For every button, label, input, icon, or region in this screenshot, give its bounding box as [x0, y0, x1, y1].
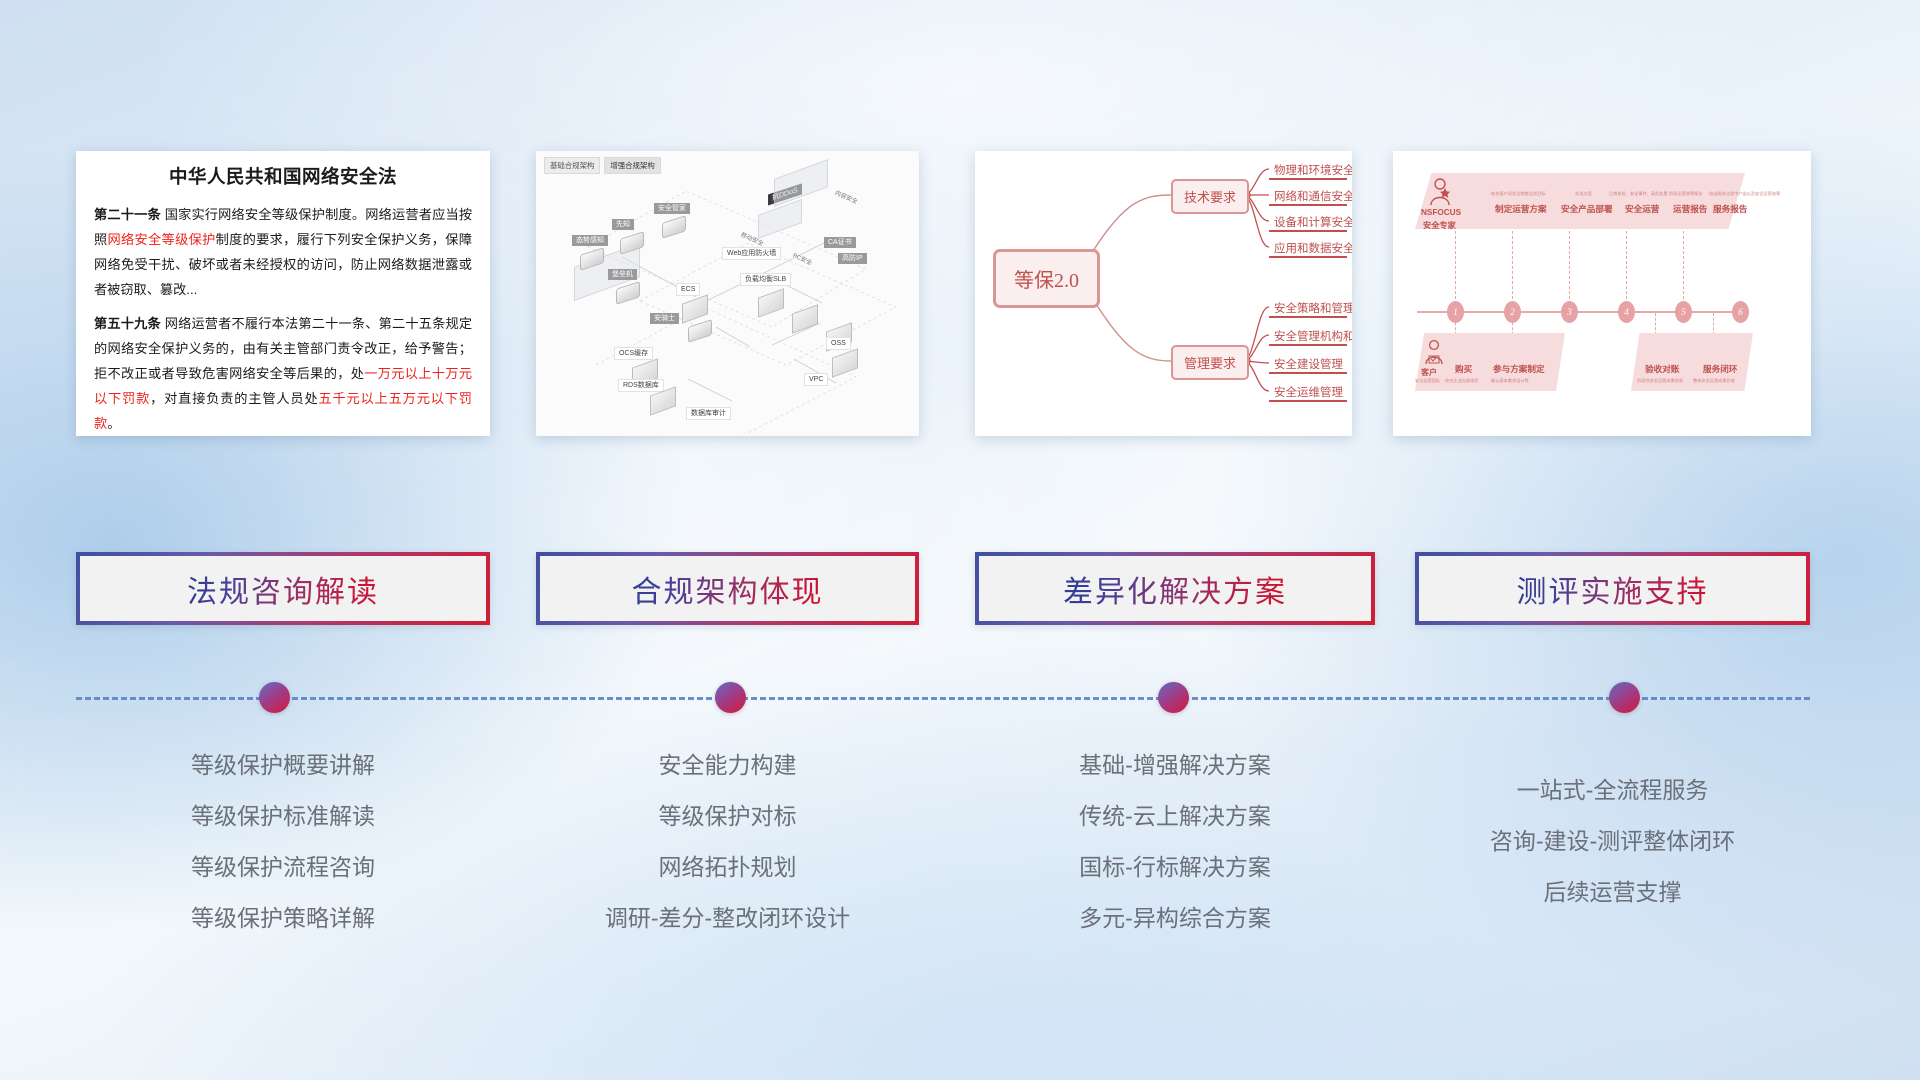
section-title-3: 差异化解决方案 — [1063, 567, 1287, 611]
section-title-box-4[interactable]: 测评实施支持 — [1415, 552, 1810, 625]
section-title-1: 法规咨询解读 — [187, 567, 379, 611]
section-title-box-1[interactable]: 法规咨询解读 — [76, 552, 490, 625]
section-items-1: 等级保护概要讲解 等级保护标准解读 等级保护流程咨询 等级保护策略详解 — [76, 740, 490, 944]
section-items-4: 一站式-全流程服务 咨询-建设-测评整体闭环 后续运营支撑 — [1415, 765, 1810, 918]
list-item: 等级保护标准解读 — [76, 791, 490, 842]
section-items-2: 安全能力构建 等级保护对标 网络拓扑规划 调研-差分-整改闭环设计 — [536, 740, 919, 944]
list-item: 等级保护流程咨询 — [76, 842, 490, 893]
section-title-4: 测评实施支持 — [1517, 567, 1709, 611]
list-item: 等级保护策略详解 — [76, 893, 490, 944]
section-title-box-2[interactable]: 合规架构体现 — [536, 552, 919, 625]
timeline-dot-1[interactable] — [259, 682, 290, 713]
list-item: 等级保护概要讲解 — [76, 740, 490, 791]
list-item: 传统-云上解决方案 — [975, 791, 1375, 842]
list-item: 后续运营支撑 — [1415, 867, 1810, 918]
timeline-dot-2[interactable] — [715, 682, 746, 713]
timeline-dot-4[interactable] — [1609, 682, 1640, 713]
timeline-dot-3[interactable] — [1158, 682, 1189, 713]
list-item: 咨询-建设-测评整体闭环 — [1415, 816, 1810, 867]
list-item: 一站式-全流程服务 — [1415, 765, 1810, 816]
list-item: 网络拓扑规划 — [536, 842, 919, 893]
section-title-box-3[interactable]: 差异化解决方案 — [975, 552, 1375, 625]
list-item: 安全能力构建 — [536, 740, 919, 791]
list-item: 基础-增强解决方案 — [975, 740, 1375, 791]
list-item: 国标-行标解决方案 — [975, 842, 1375, 893]
list-item: 多元-异构综合方案 — [975, 893, 1375, 944]
list-item: 调研-差分-整改闭环设计 — [536, 893, 919, 944]
timeline-dashed-line — [76, 697, 1810, 700]
section-items-3: 基础-增强解决方案 传统-云上解决方案 国标-行标解决方案 多元-异构综合方案 — [975, 740, 1375, 944]
list-item: 等级保护对标 — [536, 791, 919, 842]
section-title-2: 合规架构体现 — [632, 567, 824, 611]
